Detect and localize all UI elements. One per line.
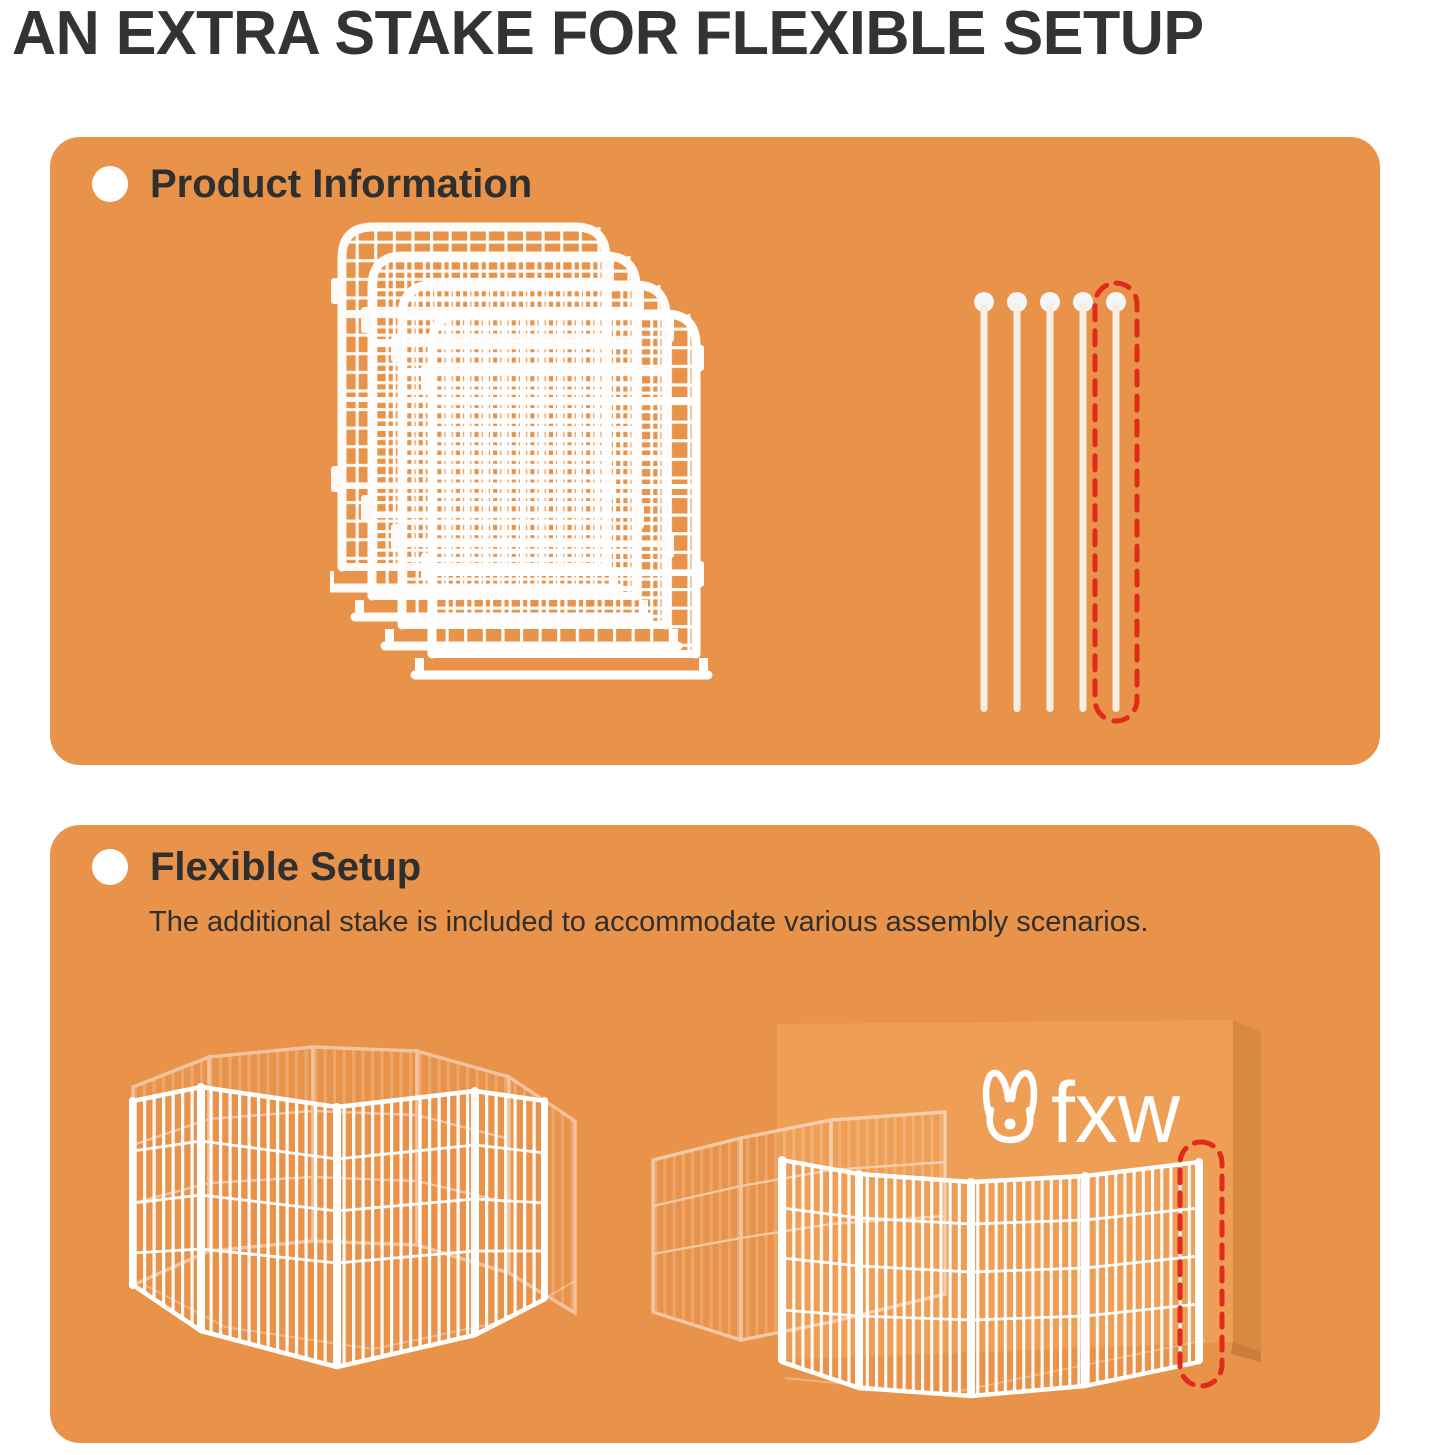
wall-setup-illustration: fxw [645, 1010, 1345, 1420]
fxw-wordmark: fxw [1051, 1065, 1181, 1161]
stake-5 [1106, 292, 1126, 712]
octagon-front-panels [129, 1083, 548, 1369]
stake-1 [974, 292, 994, 712]
bullet-dot-icon [92, 166, 128, 202]
panel-stack-illustration [330, 222, 760, 742]
page-title: AN EXTRA STAKE FOR FLEXIBLE SETUP [12, 2, 1411, 68]
card-heading-product-information: Product Information [150, 160, 532, 208]
card-header-flexible-setup: Flexible Setup [92, 843, 421, 891]
bullet-dot-icon [92, 849, 128, 885]
card-subtitle-flexible-setup: The additional stake is included to acco… [149, 903, 1148, 941]
octagon-playpen-illustration [105, 1035, 625, 1415]
stake-3 [1040, 292, 1060, 712]
card-heading-flexible-setup: Flexible Setup [150, 843, 421, 891]
stake-row-illustration [955, 277, 1215, 727]
stake-4 [1073, 292, 1093, 712]
card-header-product-information: Product Information [92, 160, 532, 208]
card-product-information: Product Information [50, 137, 1380, 765]
card-flexible-setup: Flexible Setup The additional stake is i… [50, 825, 1380, 1443]
front-panels [778, 1156, 1203, 1398]
stake-2 [1007, 292, 1027, 712]
